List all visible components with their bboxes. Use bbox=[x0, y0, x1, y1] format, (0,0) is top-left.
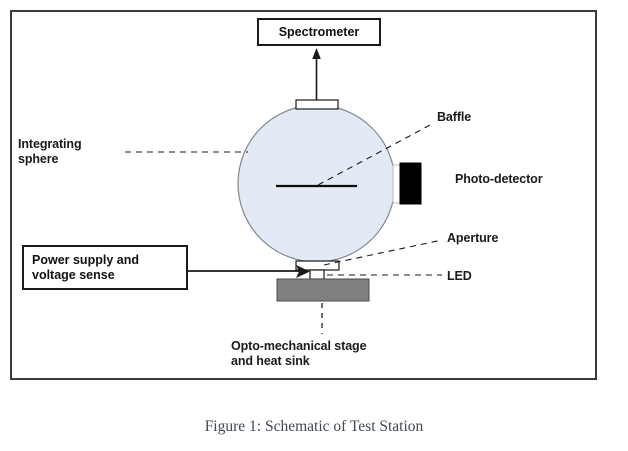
spectrometer-box[interactable]: Spectrometer bbox=[257, 18, 381, 46]
power-supply-box[interactable]: Power supply and voltage sense bbox=[22, 245, 188, 290]
label-baffle: Baffle bbox=[437, 110, 471, 125]
label-opto-mechanical-stage: Opto-mechanical stage and heat sink bbox=[231, 339, 366, 368]
label-led: LED bbox=[447, 269, 472, 284]
figure-container: Spectrometer Power supply and voltage se… bbox=[0, 0, 628, 451]
label-aperture: Aperture bbox=[447, 231, 498, 246]
figure-caption: Figure 1: Schematic of Test Station bbox=[0, 418, 628, 436]
label-integrating-sphere: Integrating sphere bbox=[18, 137, 81, 166]
spectrometer-label: Spectrometer bbox=[279, 25, 360, 40]
label-photo-detector: Photo-detector bbox=[455, 172, 543, 187]
power-supply-label: Power supply and voltage sense bbox=[32, 253, 186, 283]
schematic-frame bbox=[10, 10, 597, 380]
